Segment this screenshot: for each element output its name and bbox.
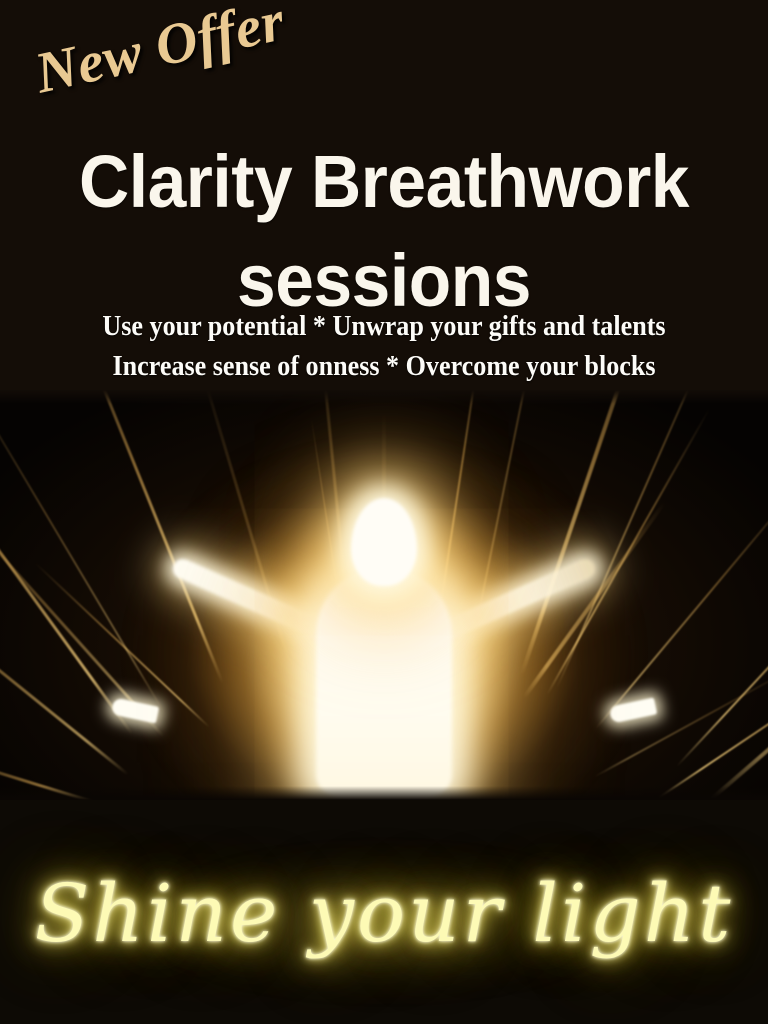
figure-right-hand: [609, 697, 658, 723]
page-title-line-1: Clarity Breathwork: [23, 132, 745, 231]
poster-footer-block: Shine your light: [0, 800, 768, 1024]
figure-left-hand: [111, 697, 160, 723]
poster-header-block: New Offer Clarity Breathwork sessions Us…: [0, 0, 768, 390]
page-title: Clarity Breathwork sessions: [23, 132, 745, 330]
subtitle-line-1: Use your potential * Unwrap your gifts a…: [38, 306, 729, 346]
promotional-poster: New Offer Clarity Breathwork sessions Us…: [0, 0, 768, 1024]
subtitle-line-2: Increase sense of onness * Overcome your…: [38, 346, 729, 386]
subtitle-block: Use your potential * Unwrap your gifts a…: [38, 306, 729, 386]
figure-torso: [316, 570, 452, 800]
new-offer-badge: New Offer: [30, 0, 290, 103]
neon-tagline: Shine your light: [0, 874, 768, 954]
hero-image-panel: [0, 390, 768, 800]
glowing-figure: [0, 390, 768, 800]
